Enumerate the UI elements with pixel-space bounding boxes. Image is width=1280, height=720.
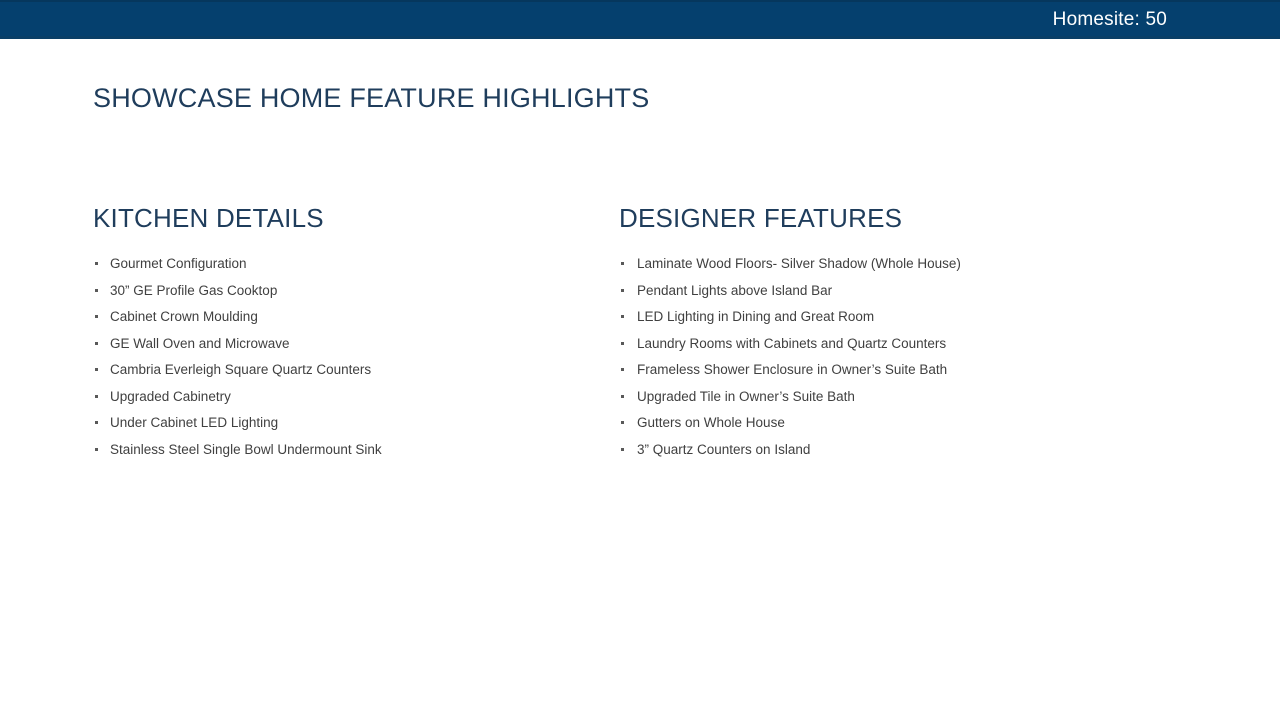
list-item: Gutters on Whole House xyxy=(619,416,1179,430)
homesite-label: Homesite: 50 xyxy=(1053,10,1280,29)
list-item: Cambria Everleigh Square Quartz Counters xyxy=(93,363,593,377)
list-item-label: Laundry Rooms with Cabinets and Quartz C… xyxy=(637,336,946,351)
list-item: Upgraded Cabinetry xyxy=(93,390,593,404)
list-item-label: Stainless Steel Single Bowl Undermount S… xyxy=(110,442,382,457)
list-item: 30” GE Profile Gas Cooktop xyxy=(93,284,593,298)
bullet-icon xyxy=(95,368,98,371)
bullet-icon xyxy=(95,289,98,292)
list-item-label: 3” Quartz Counters on Island xyxy=(637,442,810,457)
list-item: Frameless Shower Enclosure in Owner’s Su… xyxy=(619,363,1179,377)
bullet-icon xyxy=(95,262,98,265)
kitchen-details-list: Gourmet Configuration 30” GE Profile Gas… xyxy=(93,257,593,457)
bullet-icon xyxy=(95,395,98,398)
list-item-label: Under Cabinet LED Lighting xyxy=(110,415,278,430)
designer-features-list: Laminate Wood Floors- Silver Shadow (Who… xyxy=(619,257,1179,457)
bullet-icon xyxy=(621,289,624,292)
bullet-icon xyxy=(95,448,98,451)
list-item-label: GE Wall Oven and Microwave xyxy=(110,336,290,351)
page-title: SHOWCASE HOME FEATURE HIGHLIGHTS xyxy=(93,82,649,114)
list-item: LED Lighting in Dining and Great Room xyxy=(619,310,1179,324)
list-item-label: Laminate Wood Floors- Silver Shadow (Who… xyxy=(637,256,961,271)
designer-features-heading: DESIGNER FEATURES xyxy=(619,203,1179,234)
list-item-label: LED Lighting in Dining and Great Room xyxy=(637,309,874,324)
bullet-icon xyxy=(621,448,624,451)
list-item-label: Upgraded Cabinetry xyxy=(110,389,231,404)
kitchen-details-heading: KITCHEN DETAILS xyxy=(93,203,593,234)
list-item-label: Cabinet Crown Moulding xyxy=(110,309,258,324)
list-item-label: Pendant Lights above Island Bar xyxy=(637,283,832,298)
list-item-label: Gourmet Configuration xyxy=(110,256,247,271)
bullet-icon xyxy=(95,315,98,318)
list-item: Upgraded Tile in Owner’s Suite Bath xyxy=(619,390,1179,404)
kitchen-details-column: KITCHEN DETAILS Gourmet Configuration 30… xyxy=(93,203,593,469)
list-item-label: Gutters on Whole House xyxy=(637,415,785,430)
top-banner: Homesite: 50 xyxy=(0,0,1280,39)
bullet-icon xyxy=(621,342,624,345)
list-item-label: 30” GE Profile Gas Cooktop xyxy=(110,283,277,298)
list-item: 3” Quartz Counters on Island xyxy=(619,443,1179,457)
list-item: Laminate Wood Floors- Silver Shadow (Who… xyxy=(619,257,1179,271)
list-item-label: Frameless Shower Enclosure in Owner’s Su… xyxy=(637,362,947,377)
list-item: Cabinet Crown Moulding xyxy=(93,310,593,324)
designer-features-column: DESIGNER FEATURES Laminate Wood Floors- … xyxy=(619,203,1179,469)
bullet-icon xyxy=(621,421,624,424)
list-item: GE Wall Oven and Microwave xyxy=(93,337,593,351)
bullet-icon xyxy=(95,421,98,424)
list-item: Under Cabinet LED Lighting xyxy=(93,416,593,430)
list-item: Gourmet Configuration xyxy=(93,257,593,271)
list-item: Stainless Steel Single Bowl Undermount S… xyxy=(93,443,593,457)
bullet-icon xyxy=(621,368,624,371)
bullet-icon xyxy=(95,342,98,345)
bullet-icon xyxy=(621,395,624,398)
list-item: Laundry Rooms with Cabinets and Quartz C… xyxy=(619,337,1179,351)
list-item-label: Cambria Everleigh Square Quartz Counters xyxy=(110,362,371,377)
bullet-icon xyxy=(621,262,624,265)
list-item: Pendant Lights above Island Bar xyxy=(619,284,1179,298)
list-item-label: Upgraded Tile in Owner’s Suite Bath xyxy=(637,389,855,404)
bullet-icon xyxy=(621,315,624,318)
